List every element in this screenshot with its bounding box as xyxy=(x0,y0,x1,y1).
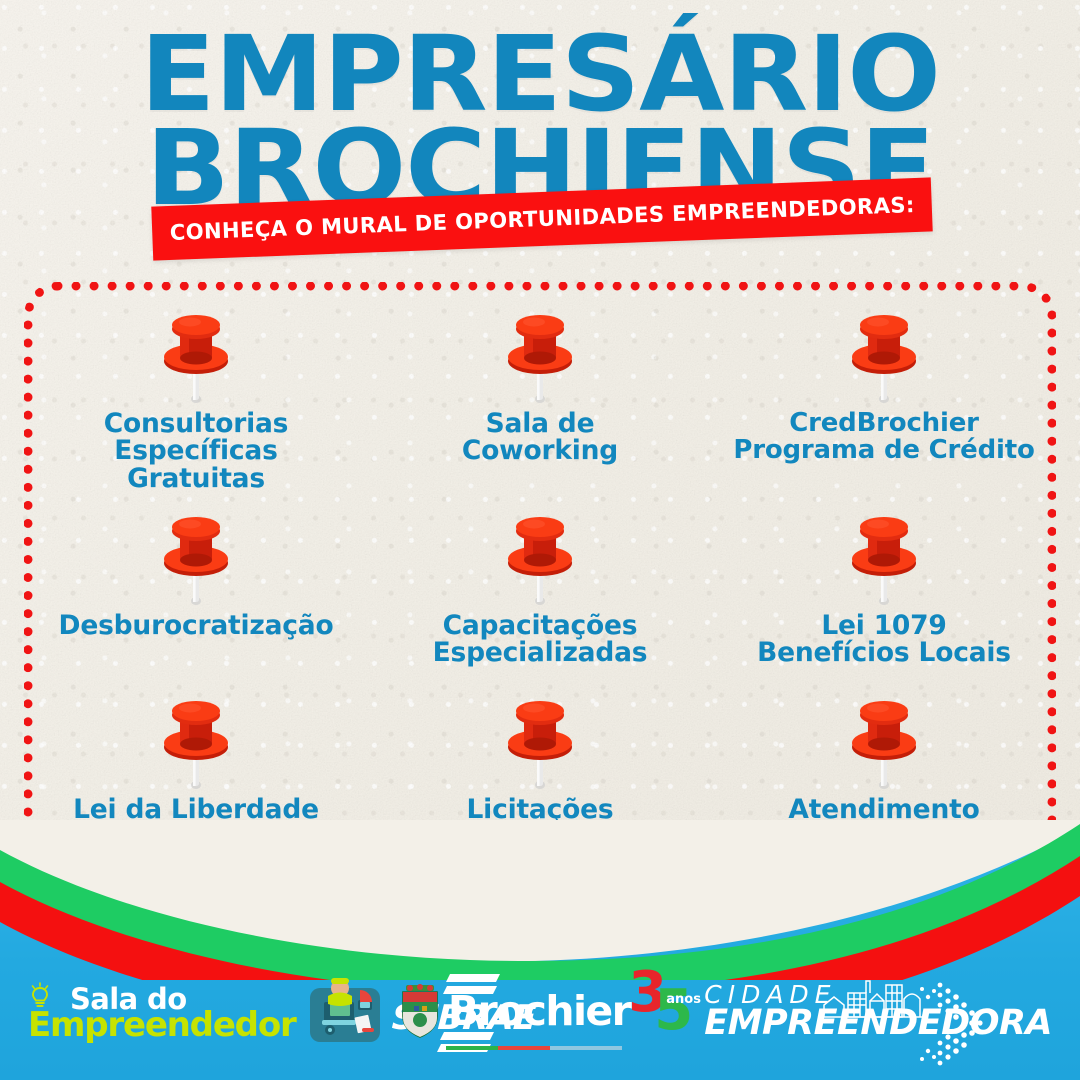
board-item[interactable]: Desburocratização xyxy=(24,492,368,676)
footer-logos: Sala do Empreendedor xyxy=(0,956,1080,1066)
board-item-label: CredBrochier Programa de Crédito xyxy=(733,410,1034,464)
pushpin-icon xyxy=(836,304,932,408)
pushpin-icon xyxy=(492,304,588,408)
pushpin-icon xyxy=(492,690,588,794)
skyline-arrow-icon xyxy=(822,975,926,1055)
board-item[interactable]: Lei 1079 Benefícios Locais xyxy=(712,492,1056,676)
coat-of-arms-icon xyxy=(398,982,442,1040)
desk-illustration-icon xyxy=(300,972,392,1050)
pushpin-icon xyxy=(492,506,588,610)
pushpin-icon xyxy=(148,506,244,610)
pushpin-icon xyxy=(836,690,932,794)
footer: Sala do Empreendedor xyxy=(0,820,1080,1080)
pushpin-icon xyxy=(148,304,244,408)
sala-line-2: Empreendedor xyxy=(28,1010,296,1041)
board-item-label: Lei 1079 Benefícios Locais xyxy=(757,612,1011,667)
brochier-35-anos: 3 5 anos xyxy=(626,976,704,1046)
opportunities-grid: Consultorias Específicas Gratuitas Sala … xyxy=(24,290,1056,860)
anos-label: anos xyxy=(666,992,701,1007)
board-item-label: Desburocratização xyxy=(59,612,334,639)
dotted-arrow-icon xyxy=(916,977,988,1071)
board-item[interactable]: CredBrochier Programa de Crédito xyxy=(712,290,1056,492)
board-item[interactable]: Consultorias Específicas Gratuitas xyxy=(24,290,368,492)
logo-sala-do-empreendedor[interactable]: Sala do Empreendedor xyxy=(28,972,392,1050)
brochier-underline-rules xyxy=(446,1046,622,1050)
pushpin-icon xyxy=(836,506,932,610)
board-item[interactable]: Sala de Coworking xyxy=(368,290,712,492)
brochier-wordmark: Brochier xyxy=(448,987,630,1035)
board-item-label: Sala de Coworking xyxy=(462,410,618,465)
board-item-label: Capacitações Especializadas xyxy=(433,612,648,667)
logo-brochier[interactable]: Brochier 3 5 anos xyxy=(398,976,704,1046)
board-item-label: Consultorias Específicas Gratuitas xyxy=(104,410,289,492)
board-item[interactable]: Capacitações Especializadas xyxy=(368,492,712,676)
pushpin-icon xyxy=(148,690,244,794)
anos-number-5: 5 xyxy=(654,978,690,1043)
logo-cidade-empreendedora[interactable]: CIDADE EMPREENDEDORA xyxy=(704,983,1052,1039)
